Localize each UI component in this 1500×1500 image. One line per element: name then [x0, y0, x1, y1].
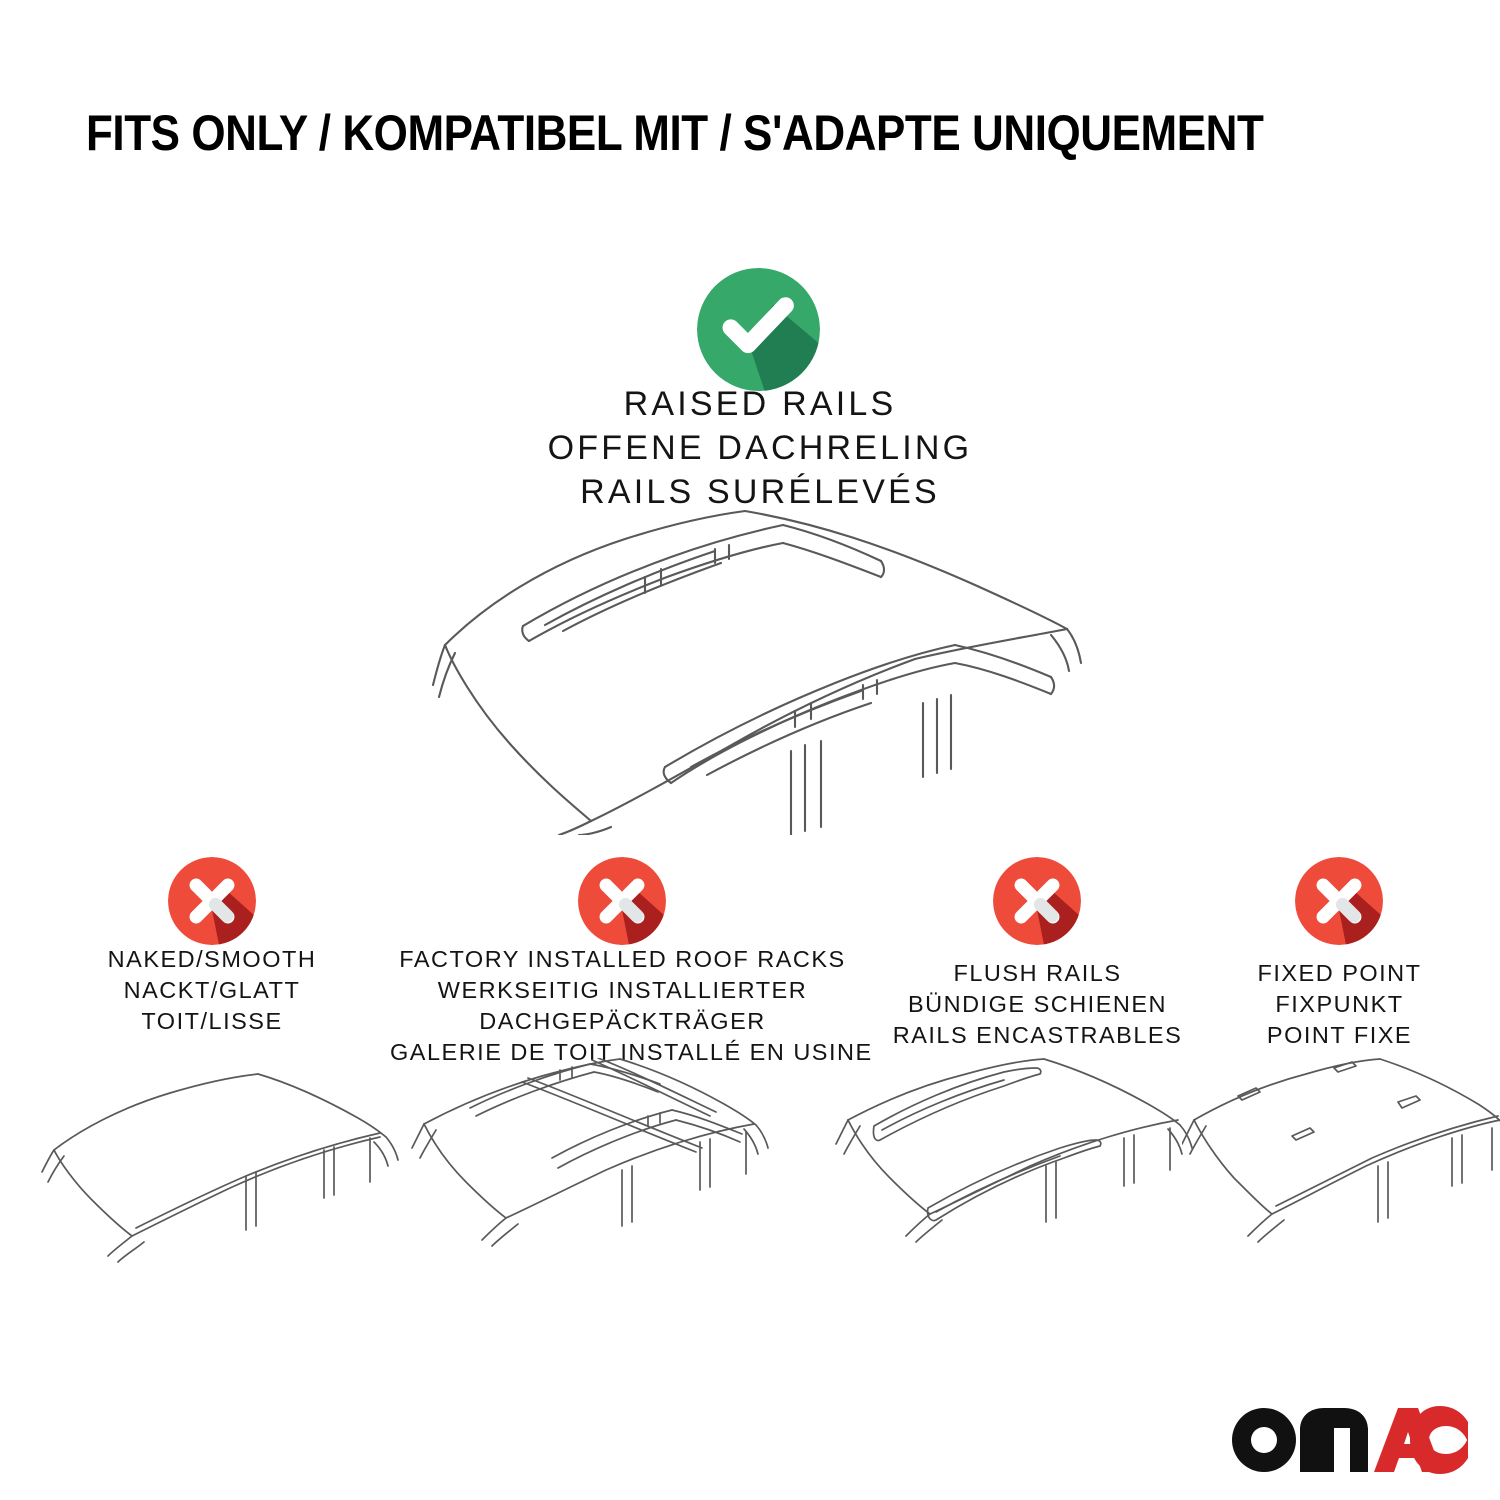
incompatible-label-factory-installed-roof-racks: FACTORY INSTALLED ROOF RACKS WERKSEITIG …: [390, 944, 855, 1068]
x-circle-icon: [168, 857, 256, 945]
label-line-3: RAILS ENCASTRABLES: [855, 1020, 1220, 1051]
compatible-line-1: RAISED RAILS: [430, 382, 1090, 426]
incompatible-label-fixed-point: FIXED POINT FIXPUNKT POINT FIXE: [1222, 958, 1457, 1051]
car-roof-factory-racks-illustration: [410, 1058, 785, 1293]
incompatible-label-naked-smooth: NAKED/SMOOTH NACKT/GLATT TOIT/LISSE: [32, 944, 392, 1037]
label-line-2: FIXPUNKT: [1222, 989, 1457, 1020]
label-line-1: FACTORY INSTALLED ROOF RACKS: [390, 944, 855, 975]
page-title: FITS ONLY / KOMPATIBEL MIT / S'ADAPTE UN…: [86, 108, 1265, 158]
car-roof-fixed-point-illustration: [1182, 1058, 1500, 1293]
x-circle-icon: [1295, 857, 1383, 945]
omac-logo: [1228, 1404, 1468, 1474]
label-line-1: NAKED/SMOOTH: [32, 944, 392, 975]
car-roof-naked-smooth-illustration: [40, 1058, 400, 1293]
car-roof-raised-rails-illustration: [415, 505, 1115, 835]
fitment-info-graphic: FITS ONLY / KOMPATIBEL MIT / S'ADAPTE UN…: [0, 0, 1500, 1500]
label-line-3: TOIT/LISSE: [32, 1006, 392, 1037]
check-circle-icon: [697, 268, 820, 391]
label-line-3: DACHGEPÄCKTRÄGER: [390, 1006, 855, 1037]
label-line-1: FLUSH RAILS: [855, 958, 1220, 989]
compatible-label: RAISED RAILS OFFENE DACHRELING RAILS SUR…: [430, 382, 1090, 515]
car-roof-flush-rails-illustration: [832, 1058, 1202, 1293]
label-line-2: NACKT/GLATT: [32, 975, 392, 1006]
label-line-2: BÜNDIGE SCHIENEN: [855, 989, 1220, 1020]
x-circle-icon: [993, 857, 1081, 945]
x-circle-icon: [578, 857, 666, 945]
label-line-3: POINT FIXE: [1222, 1020, 1457, 1051]
label-line-2: WERKSEITIG INSTALLIERTER: [390, 975, 855, 1006]
incompatible-label-flush-rails: FLUSH RAILS BÜNDIGE SCHIENEN RAILS ENCAS…: [855, 958, 1220, 1051]
compatible-line-2: OFFENE DACHRELING: [430, 426, 1090, 470]
label-line-1: FIXED POINT: [1222, 958, 1457, 989]
